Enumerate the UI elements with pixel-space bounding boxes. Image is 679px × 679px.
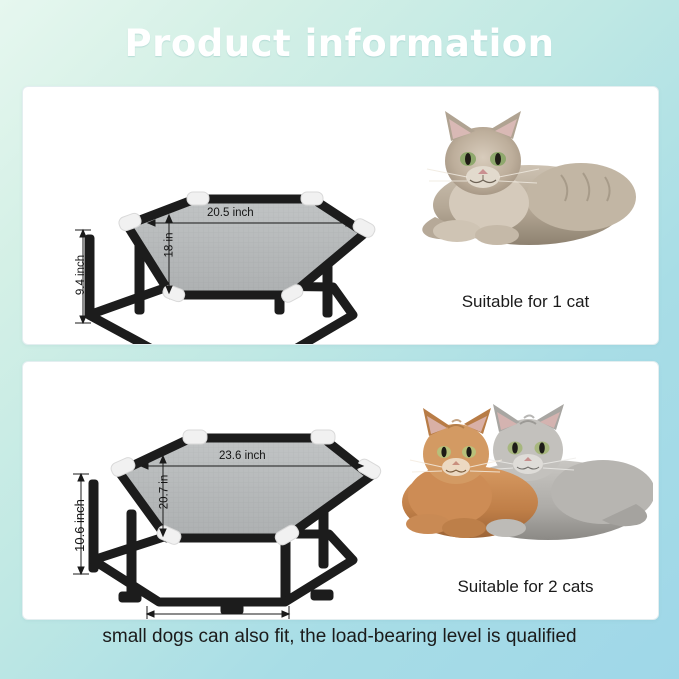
dimension-label-left-large: 10.6 inch	[72, 499, 87, 552]
diagram-small-bed: 20.5 inch 18 in 9.4 inch 10.6 inch	[23, 87, 393, 344]
dimension-label-top-small: 20.5 inch	[207, 207, 254, 219]
page-title: Product information	[0, 0, 679, 65]
product-card-small: 20.5 inch 18 in 9.4 inch 10.6 inch	[22, 86, 659, 345]
dimension-label-inner-large: 20.7 in	[158, 475, 170, 510]
caption-one-cat: Suitable for 1 cat	[393, 292, 658, 312]
cat-photo-pair	[398, 372, 653, 557]
caption-two-cats: Suitable for 2 cats	[393, 577, 658, 597]
bed-diagram-svg-large	[23, 362, 393, 620]
footnote-text: small dogs can also fit, the load-bearin…	[0, 626, 679, 648]
dimension-label-inner-small: 18 in	[163, 233, 175, 258]
photo-pane-two-cats: Suitable for 2 cats	[393, 362, 658, 619]
diagram-large-bed: 23.6 inch 20.7 in 10.6 inch 12 inch	[23, 362, 393, 619]
product-card-large: 23.6 inch 20.7 in 10.6 inch 12 inch	[22, 361, 659, 620]
cat-photo-single	[401, 97, 651, 257]
photo-pane-one-cat: Suitable for 1 cat	[393, 87, 658, 344]
product-information-page: Product information	[0, 0, 679, 679]
dimension-label-top-large: 23.6 inch	[219, 450, 266, 462]
dimension-label-left-small: 9.4 inch	[75, 255, 87, 295]
